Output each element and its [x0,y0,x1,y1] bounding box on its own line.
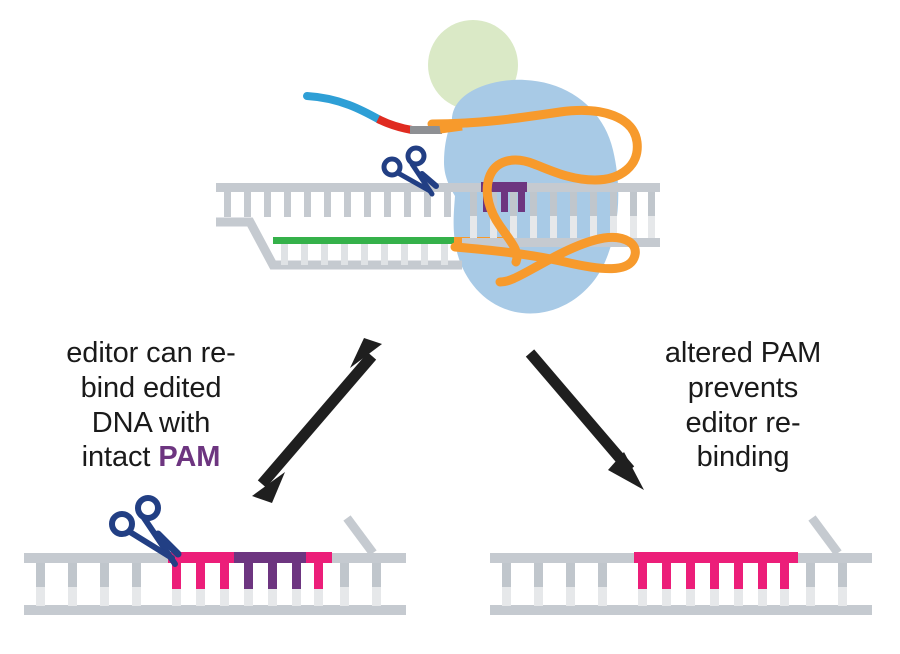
caption-left-intact-pam: editor can re- bind edited DNA with inta… [26,336,276,475]
dna-bottom-backbone-right [490,605,872,615]
pam-backbone-left [234,552,306,563]
bottom-left-dna [24,498,406,615]
dna-top-teeth-left [224,192,451,217]
dna-flap-right-panel [812,518,838,553]
bottom-right-dna [490,518,872,615]
edited-backbone-right [634,552,798,563]
guide-rna-tail-blue [307,96,380,120]
dna-rungs-right-edited [638,563,789,606]
dna-top-backbone-right-gray-b [796,553,872,563]
dna-bubble-teeth [281,243,448,265]
caption-left-line-4: intact PAM [26,440,276,475]
dna-flap-left-panel [347,518,373,553]
caption-left-line-4-prefix: intact [82,441,159,473]
guide-rna-tail-orange [440,126,462,129]
caption-right-line-4: binding [618,440,868,475]
caption-left-line-1: editor can re- [26,336,276,371]
dna-rungs-left-gray [36,563,381,606]
caption-right-line-3: editor re- [618,406,868,441]
top-panel-complex [216,20,660,313]
dna-top-backbone-left-gray-b [330,553,406,563]
dna-top-backbone-right-gray-a [490,553,636,563]
caption-left-line-2: bind edited [26,371,276,406]
target-strand-rna-green [273,237,456,244]
caption-right-line-1: altered PAM [618,336,868,371]
pam-label: PAM [158,441,220,473]
crispr-diagram-svg [0,0,900,654]
caption-right-line-2: prevents [618,371,868,406]
dna-bottom-backbone-left [24,605,406,615]
dna-top-backbone-left-gray-a [24,553,170,563]
figure-root: editor can re- bind edited DNA with inta… [0,0,900,654]
guide-rna-tail-red [378,119,412,130]
caption-left-line-3: DNA with [26,406,276,441]
caption-right-altered-pam: altered PAM prevents editor re- binding [618,336,868,475]
dna-rungs-left-edited [172,563,323,606]
dna-rungs-right-gray [502,563,847,606]
